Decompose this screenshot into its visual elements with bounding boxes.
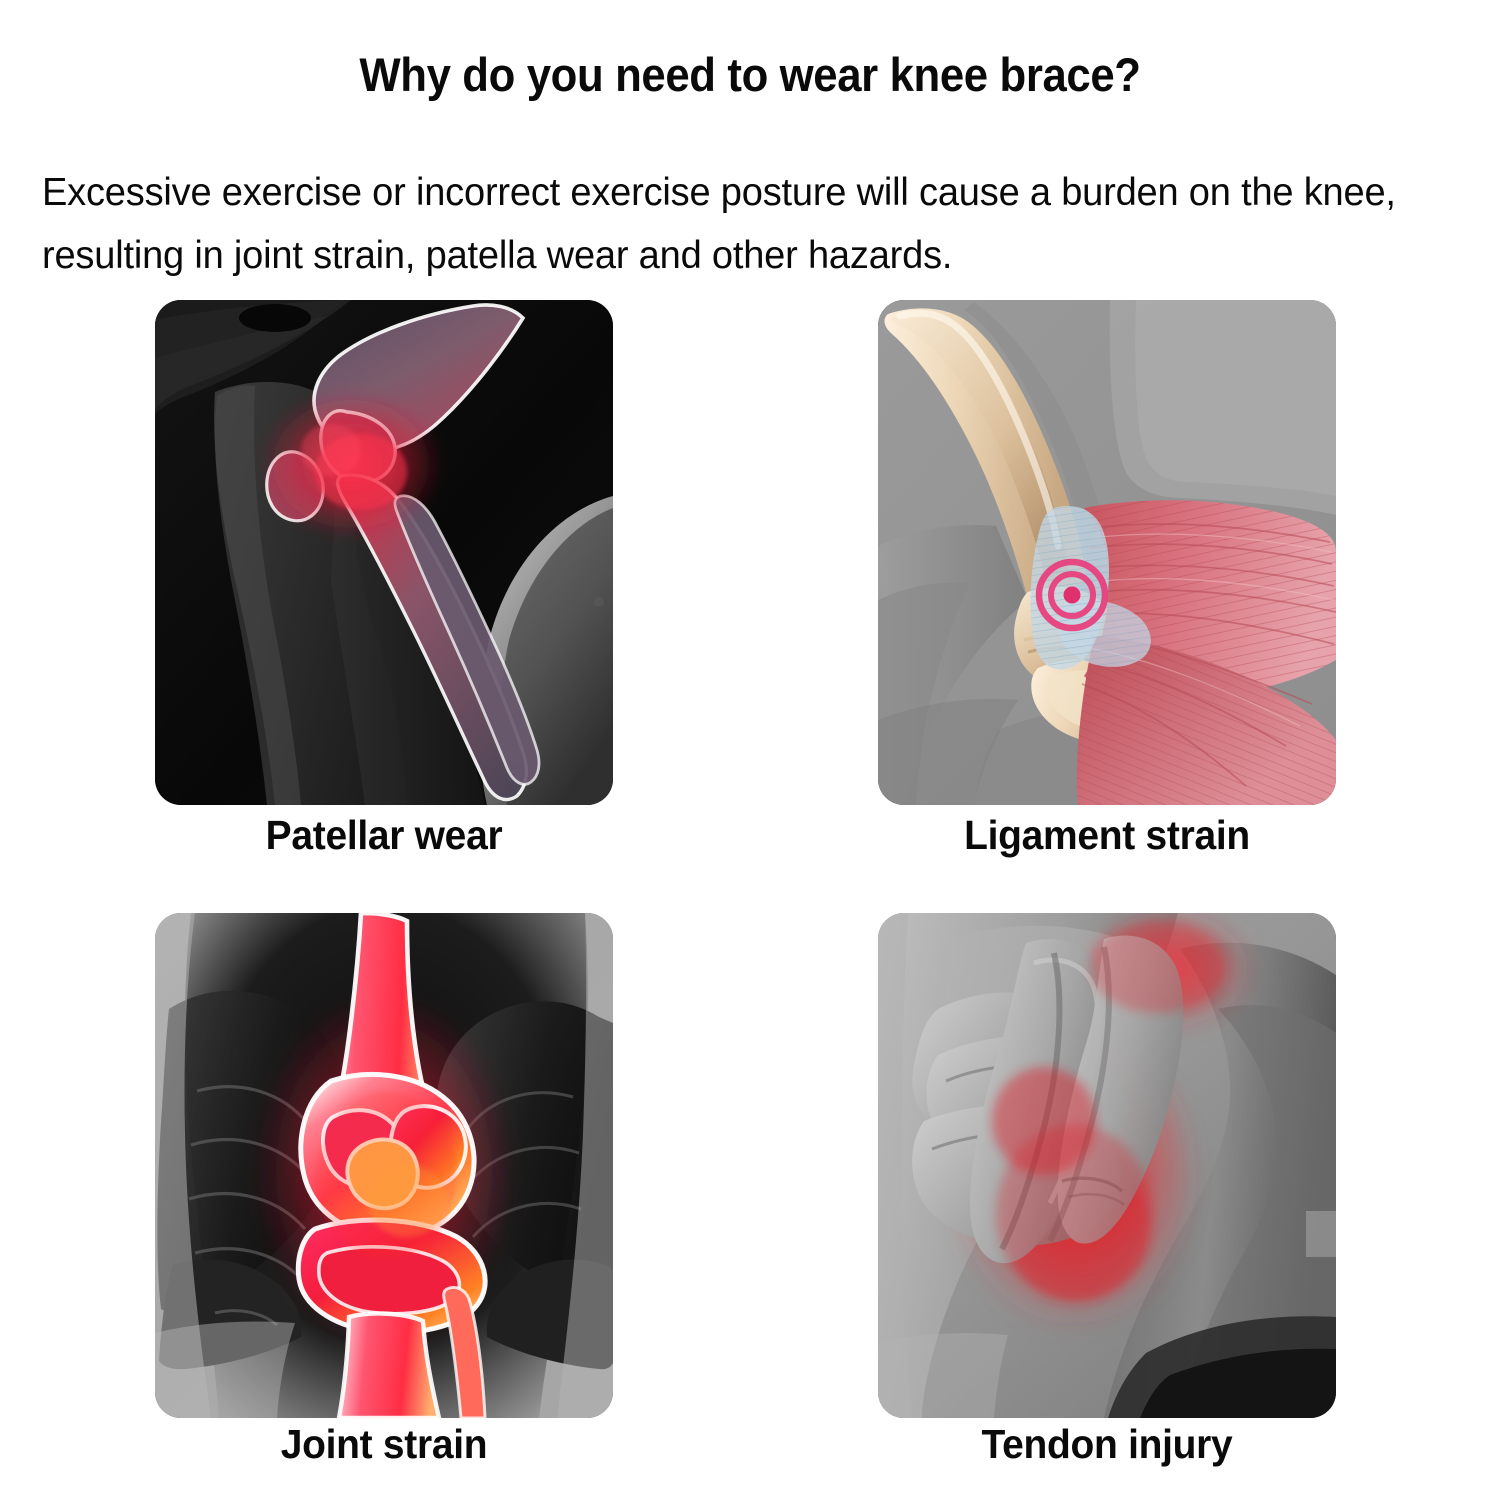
xray-bent-knee-side-view-image — [155, 300, 613, 805]
card-caption-ligament-strain: Ligament strain — [889, 812, 1324, 859]
anatomy-elbow-ligament-illustration-image — [878, 300, 1336, 805]
hand-gripping-knee-red-pain-image — [878, 913, 1336, 1418]
card-caption-joint-strain: Joint strain — [166, 1421, 601, 1468]
card-caption-patellar-wear: Patellar wear — [166, 812, 601, 859]
injury-card-grid: Patellar wear — [0, 0, 1500, 1500]
infographic-page: Why do you need to wear knee brace? Exce… — [0, 0, 1500, 1500]
pain-target-icon — [1039, 562, 1105, 628]
xray-front-knee-glowing-joint-image — [155, 913, 613, 1418]
card-caption-tendon-injury: Tendon injury — [889, 1421, 1324, 1468]
